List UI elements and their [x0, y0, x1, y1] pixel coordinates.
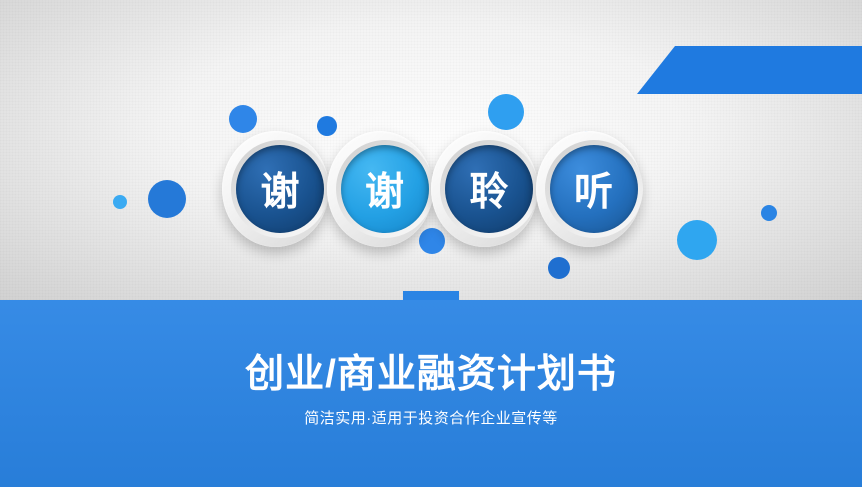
decorative-dot — [148, 180, 186, 218]
badge-label-4: 听 — [550, 145, 638, 233]
decorative-dot — [488, 94, 524, 130]
badge-3: 聆 — [431, 131, 538, 247]
decorative-dot — [229, 105, 257, 133]
slide-subtitle: 简洁实用·适用于投资合作企业宣传等 — [0, 407, 862, 428]
decorative-ribbon-shape — [637, 46, 862, 94]
presentation-slide: 谢 谢 聆 听 创业/商业融资计划书 简洁实用·适用于投资合作企业宣传等 — [0, 0, 862, 487]
badge-label-2: 谢 — [341, 145, 429, 233]
badge-label-3: 聆 — [445, 145, 533, 233]
decorative-dot — [548, 257, 570, 279]
thank-you-badge-group: 谢 谢 聆 听 — [222, 131, 642, 251]
badge-1: 谢 — [222, 131, 329, 247]
decorative-dot — [113, 195, 127, 209]
badge-4: 听 — [536, 131, 643, 247]
decorative-dot — [761, 205, 777, 221]
slide-title: 创业/商业融资计划书 — [0, 343, 862, 399]
badge-2: 谢 — [327, 131, 434, 247]
badge-label-1: 谢 — [236, 145, 324, 233]
decorative-dot — [677, 220, 717, 260]
